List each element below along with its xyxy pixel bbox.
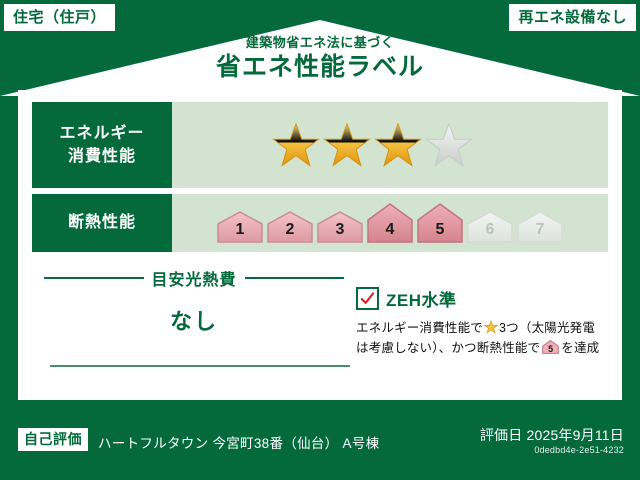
insulation-grade-1: 1 [216, 210, 264, 244]
utility-cost-underline [50, 365, 350, 367]
energy-performance-label: エネルギー 消費性能 [32, 102, 172, 188]
title-main: 省エネ性能ラベル [0, 53, 640, 82]
evaluation-date-label: 評価日 [480, 427, 523, 443]
insulation-grade-2: 2 [266, 210, 314, 244]
zeh-title-row: ZEH水準 [356, 286, 618, 311]
evaluation-id: 0dedbd4e-2e51-4232 [534, 445, 624, 455]
zeh-description: エネルギー消費性能で3つ（太陽光発電は考慮しない）、かつ断熱性能で5を達成 [356, 318, 618, 359]
energy-performance-row: エネルギー 消費性能 [32, 102, 608, 188]
heading-rule-right [245, 277, 345, 279]
insulation-grade-4: 4 [366, 202, 414, 244]
insulation-grade-4-value: 4 [366, 221, 414, 239]
utility-cost-value: なし [44, 304, 344, 336]
zeh-desc-part2: は考慮しない）、かつ断熱性能で [356, 341, 540, 355]
star-icon-empty-4 [425, 121, 473, 169]
star-icon-filled-2 [323, 121, 371, 169]
evaluation-type-badge: 自己評価 [18, 428, 88, 451]
title-subtitle: 建築物省エネ法に基づく [0, 36, 640, 50]
insulation-grade-7-value: 7 [516, 221, 564, 239]
zeh-title-text: ZEH水準 [386, 286, 457, 311]
label-card: エネルギー 消費性能 [18, 90, 622, 400]
energy-label-line2: 消費性能 [68, 145, 136, 168]
star-rating [272, 121, 473, 169]
house-icon-inline: 5 [542, 340, 559, 354]
insulation-grade-5-value: 5 [416, 221, 464, 239]
check-icon [360, 291, 375, 306]
utility-cost-heading-text: 目安光熱費 [152, 266, 237, 290]
insulation-grade-3-value: 3 [316, 221, 364, 239]
insulation-grade-2-value: 2 [266, 221, 314, 239]
zeh-desc-star-count: 3つ（太陽光発電 [499, 321, 595, 335]
tag-renewable-equipment: 再エネ設備なし [509, 4, 636, 31]
insulation-grade-6-value: 6 [466, 221, 514, 239]
energy-performance-value [172, 102, 608, 188]
insulation-grade-1-value: 1 [216, 221, 264, 239]
zeh-desc-part1: エネルギー消費性能で [356, 321, 483, 335]
insulation-performance-value: 1 2 3 [172, 194, 608, 252]
label-footer: 自己評価 ハートフルタウン 今宮町38番（仙台） A号棟 評価日 2025年9月… [0, 408, 640, 480]
energy-label-line1: エネルギー [59, 122, 144, 145]
insulation-performance-label: 断熱性能 [32, 194, 172, 252]
zeh-desc-grade: 5 [542, 345, 559, 354]
zeh-block: ZEH水準 エネルギー消費性能で3つ（太陽光発電は考慮しない）、かつ断熱性能で5… [356, 286, 618, 359]
star-icon-filled-3 [374, 121, 422, 169]
evaluation-date: 評価日 2025年9月11日 [480, 425, 624, 445]
insulation-grade-6: 6 [466, 210, 514, 244]
star-icon-filled-1 [272, 121, 320, 169]
energy-performance-label: 住宅（住戸） 再エネ設備なし 建築物省エネ法に基づく 省エネ性能ラベル エネルギ… [0, 0, 640, 480]
insulation-grade-scale: 1 2 3 [216, 202, 564, 244]
insulation-performance-row: 断熱性能 1 [32, 194, 608, 252]
heading-rule-left [44, 277, 144, 279]
utility-cost-heading: 目安光熱費 [44, 266, 344, 290]
insulation-grade-5: 5 [416, 202, 464, 244]
insulation-grade-7: 7 [516, 210, 564, 244]
evaluation-date-value: 2025年9月11日 [527, 427, 624, 443]
title-block: 建築物省エネ法に基づく 省エネ性能ラベル [0, 36, 640, 82]
insulation-label-line1: 断熱性能 [68, 211, 136, 234]
zeh-checkbox[interactable] [356, 287, 379, 310]
zeh-desc-part3: を達成 [561, 341, 599, 355]
tag-housing-type: 住宅（住戸） [4, 4, 115, 31]
insulation-grade-3: 3 [316, 210, 364, 244]
building-name: ハートフルタウン 今宮町38番（仙台） A号棟 [98, 432, 379, 452]
star-icon-inline [484, 320, 498, 334]
